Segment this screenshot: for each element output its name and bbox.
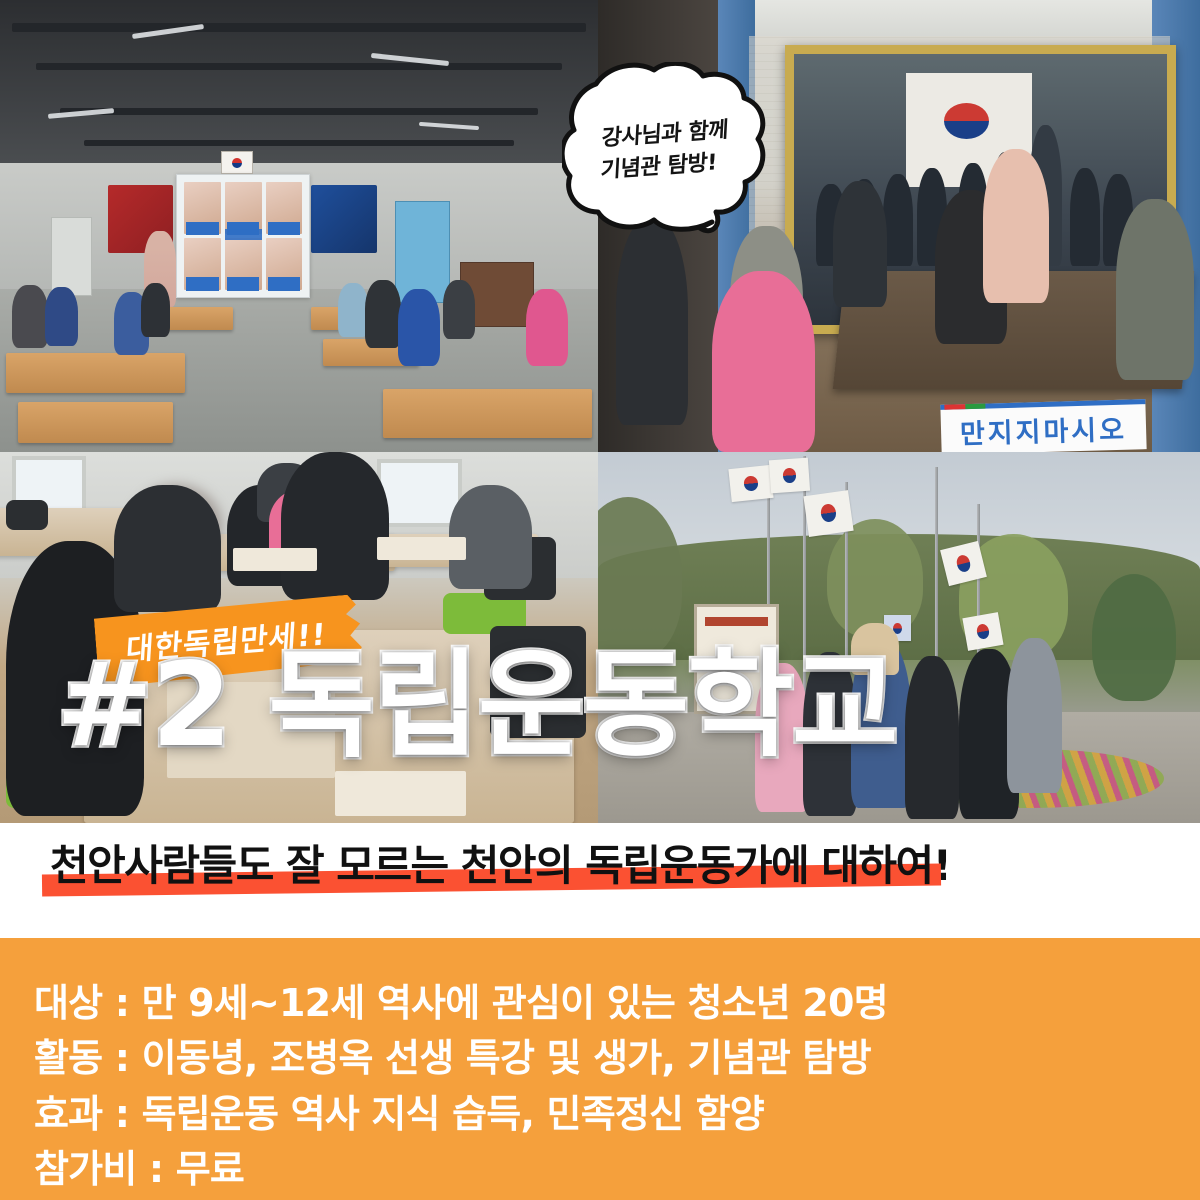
blue-banner xyxy=(311,185,377,253)
poster-root: 만지지마시오 xyxy=(0,0,1200,1200)
student xyxy=(1007,638,1061,794)
info-panel: 대상 : 만 9세~12세 역사에 관심이 있는 청소년 20명 활동 : 이동… xyxy=(0,938,1200,1200)
korean-flag-icon xyxy=(729,465,774,503)
info-item-fee: 참가비 : 무료 xyxy=(34,1142,1200,1197)
speech-bubble: 강사님과 함께 기념관 탐방! xyxy=(562,62,768,234)
korean-flag-icon xyxy=(221,151,253,174)
info-item-effect: 효과 : 독립운동 역사 지식 습득, 민족정신 함양 xyxy=(34,1087,1200,1142)
photo-top-left xyxy=(0,0,598,452)
classroom-lecture-photo xyxy=(0,0,598,452)
bubble-line-2: 기념관 탐방! xyxy=(600,147,718,187)
sign-red-stripe xyxy=(945,404,966,410)
teacher xyxy=(281,452,389,600)
subtitle-highlighted-text: 천안사람들도 잘 모르는 천안의 독립운동가에 대하여 xyxy=(50,843,933,889)
korean-flag-icon xyxy=(768,458,809,494)
sign-green-stripe xyxy=(965,403,986,409)
door xyxy=(395,201,451,302)
window xyxy=(377,459,463,526)
info-item-activity: 활동 : 이동녕, 조병옥 선생 특강 및 생가, 기념관 탐방 xyxy=(34,1031,1200,1086)
korean-flag-icon xyxy=(803,490,853,537)
student xyxy=(712,271,814,452)
student xyxy=(616,217,688,425)
subtitle-band: 천안사람들도 잘 모르는 천안의 독립운동가에 대하여! xyxy=(0,823,1200,938)
air-conditioner xyxy=(51,217,92,296)
info-list: 대상 : 만 9세~12세 역사에 관심이 있는 청소년 20명 활동 : 이동… xyxy=(0,938,1200,1198)
guide-person xyxy=(983,149,1049,303)
student xyxy=(114,485,222,611)
sign-text: 만지지마시오 xyxy=(959,408,1127,452)
wax-figure xyxy=(1116,199,1194,380)
slide-center-label xyxy=(225,229,262,240)
korean-flag-icon xyxy=(963,612,1004,651)
student xyxy=(905,656,959,819)
subtitle: 천안사람들도 잘 모르는 천안의 독립운동가에 대하여! xyxy=(50,843,950,889)
projector-screen xyxy=(176,174,310,298)
student xyxy=(833,181,887,308)
page-title: #2 독립운동학교 xyxy=(56,648,897,764)
do-not-touch-sign: 만지지마시오 xyxy=(940,399,1146,452)
info-item-target: 대상 : 만 9세~12세 역사에 관심이 있는 청소년 20명 xyxy=(34,976,1200,1031)
speech-bubble-text: 강사님과 함께 기념관 탐방! xyxy=(562,62,768,234)
